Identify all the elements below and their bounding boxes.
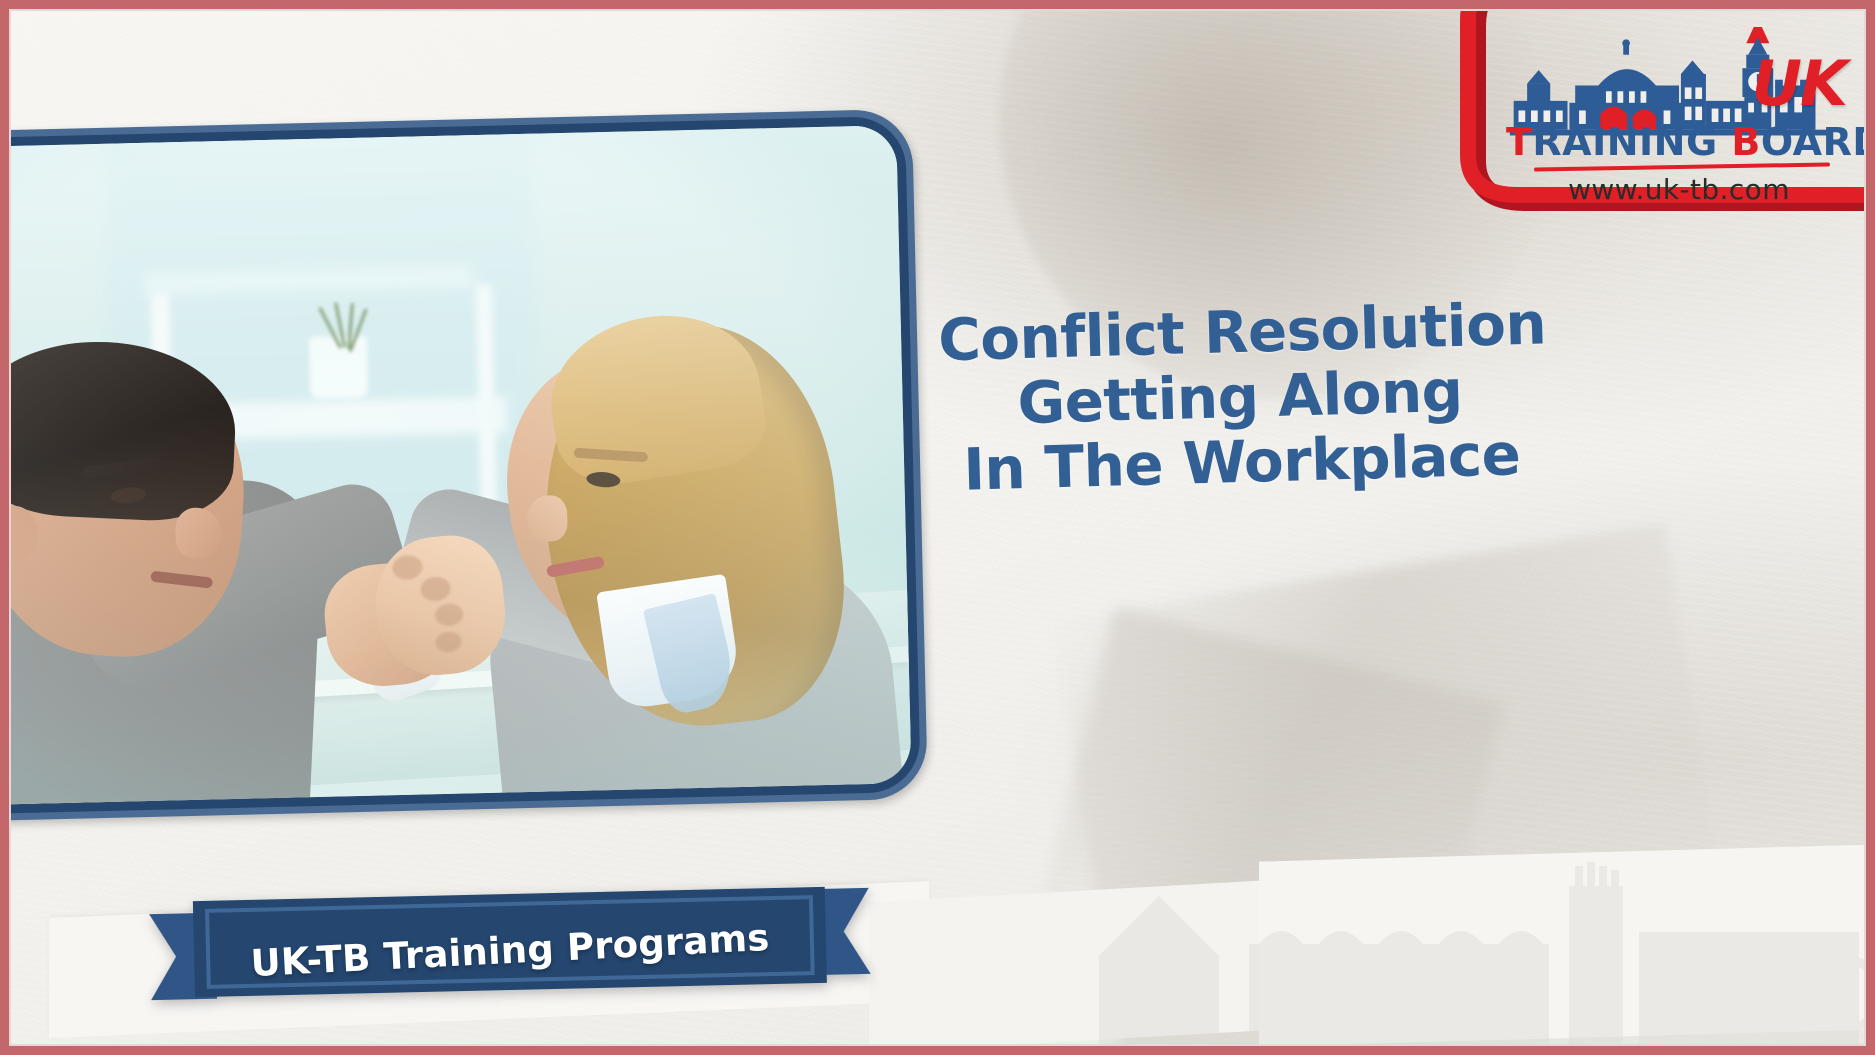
- headline-block: Conflict Resolution Getting Along In The…: [937, 292, 1542, 504]
- poster-canvas: UK-TB Training Programs Conflict Resolut…: [0, 0, 1875, 1055]
- logo-website-url: www.uk-tb.com: [1506, 173, 1852, 206]
- logo-board-part-4: OARD: [1761, 120, 1875, 164]
- logo-training-board-text: TRAINING BOARD: [1506, 123, 1848, 161]
- ribbon-banner: UK-TB Training Programs: [149, 880, 872, 1016]
- logo-board-part-2: RAINING: [1532, 120, 1717, 164]
- hero-photo: [0, 125, 912, 805]
- logo-uk-text: UK: [1752, 53, 1846, 115]
- logo-board-part-1: T: [1506, 120, 1532, 164]
- photo-color-grade: [0, 125, 912, 805]
- logo-badge[interactable]: UK TRAINING BOARD www.uk-tb.com: [1446, 9, 1866, 209]
- logo-board-part-3: B: [1718, 120, 1761, 164]
- hero-photo-frame: [0, 109, 928, 821]
